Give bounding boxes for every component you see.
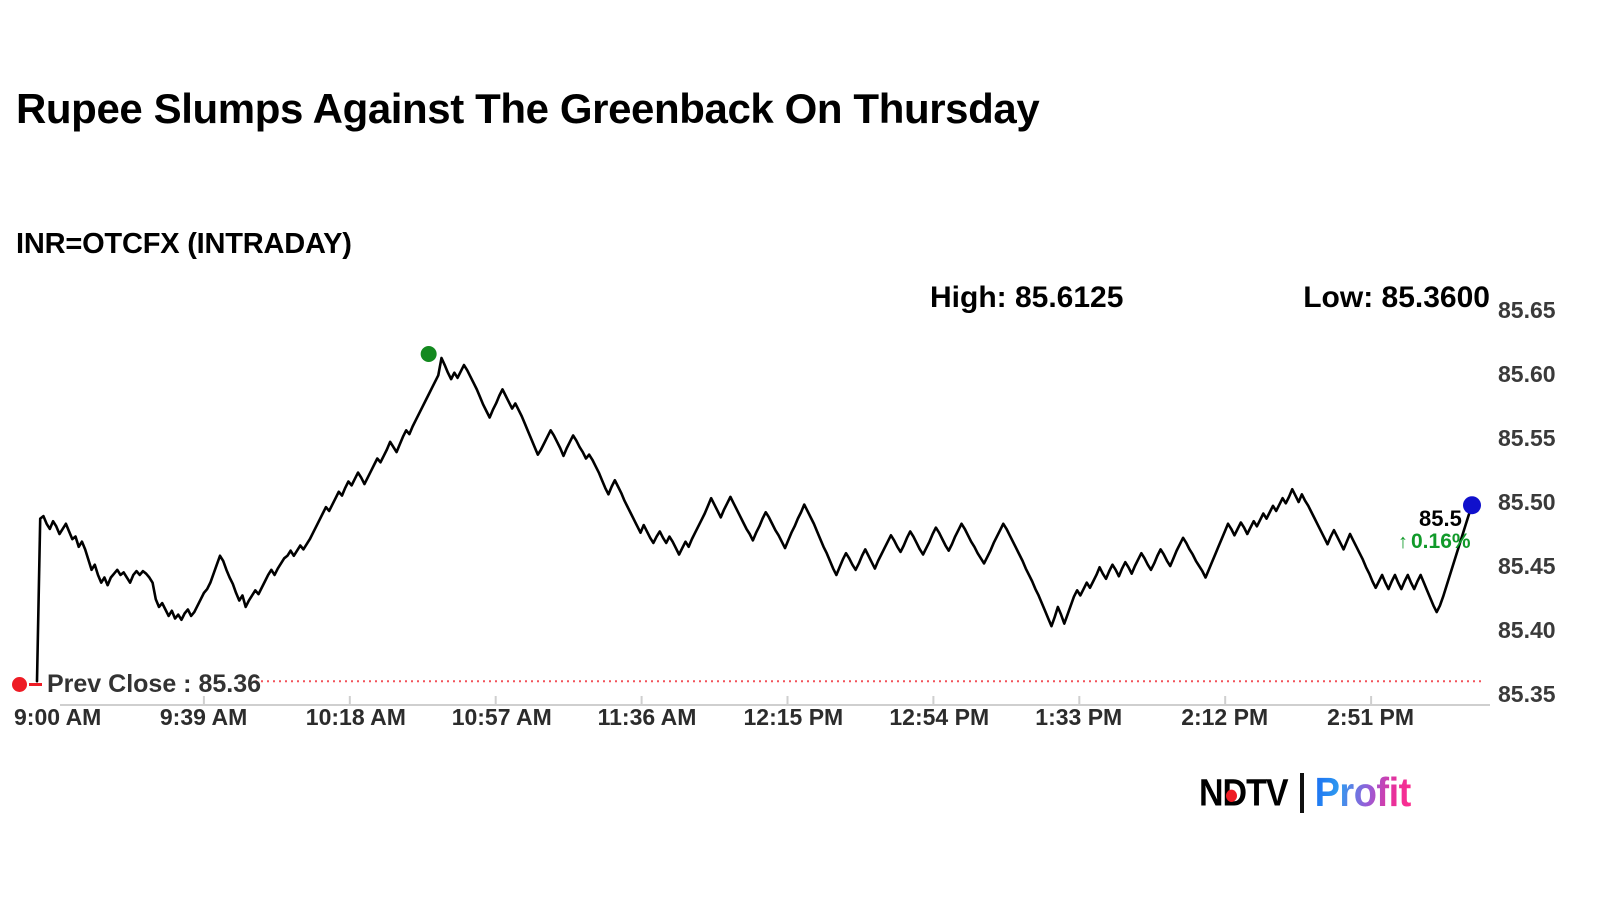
x-axis-tick-label: 10:57 AM xyxy=(452,706,552,729)
x-axis-tick-label: 9:00 AM xyxy=(14,706,101,729)
y-axis-tick-label: 85.40 xyxy=(1498,619,1556,642)
y-axis-tick-label: 85.55 xyxy=(1498,427,1556,450)
y-axis-tick-label: 85.65 xyxy=(1498,299,1556,322)
prev-close-dash-icon xyxy=(29,683,42,686)
ndtv-red-dot-icon xyxy=(1226,790,1237,802)
x-axis-tick-label: 12:15 PM xyxy=(744,706,844,729)
price-line-chart xyxy=(0,280,1495,710)
brand-logo: NDTV Profit xyxy=(1199,772,1411,814)
x-axis-tick-label: 9:39 AM xyxy=(160,706,247,729)
last-change-label: ↑ 0.16% xyxy=(1398,530,1471,554)
x-axis: 9:00 AM9:39 AM10:18 AM10:57 AM11:36 AM12… xyxy=(0,706,1600,746)
x-axis-tick-label: 11:36 AM xyxy=(598,706,697,729)
logo-divider xyxy=(1300,773,1304,813)
y-axis-tick-label: 85.35 xyxy=(1498,683,1556,706)
instrument-subtitle: INR=OTCFX (INTRADAY) xyxy=(16,228,352,261)
x-axis-tick-label: 2:12 PM xyxy=(1181,706,1268,729)
chart-card: Rupee Slumps Against The Greenback On Th… xyxy=(0,0,1600,900)
high-point-marker xyxy=(421,346,437,362)
page-title: Rupee Slumps Against The Greenback On Th… xyxy=(16,84,1116,134)
ndtv-wordmark: NDTV xyxy=(1199,774,1288,812)
prev-close-dot-icon xyxy=(12,677,27,692)
prev-close-label: Prev Close : 85.36 xyxy=(47,670,261,699)
up-arrow-icon: ↑ xyxy=(1398,532,1408,552)
price-series-line xyxy=(37,358,1472,681)
profit-wordmark: Profit xyxy=(1315,772,1411,813)
x-axis-tick-label: 12:54 PM xyxy=(889,706,989,729)
y-axis-tick-label: 85.45 xyxy=(1498,555,1556,578)
y-axis: 85.6585.6085.5585.5085.4585.4085.35 xyxy=(1498,280,1598,710)
ndtv-text: NDTV xyxy=(1199,772,1288,815)
y-axis-tick-label: 85.50 xyxy=(1498,491,1556,514)
x-axis-tick-label: 1:33 PM xyxy=(1035,706,1122,729)
price-chart-plot xyxy=(0,280,1495,710)
x-axis-tick-label: 2:51 PM xyxy=(1327,706,1414,729)
last-point-marker xyxy=(1463,496,1481,514)
x-axis-tick-label: 10:18 AM xyxy=(306,706,406,729)
y-axis-tick-label: 85.60 xyxy=(1498,363,1556,386)
prev-close-legend: Prev Close : 85.36 xyxy=(12,670,261,699)
last-change-value: 0.16% xyxy=(1411,530,1471,554)
last-price-label: 85.5 xyxy=(1419,506,1462,532)
